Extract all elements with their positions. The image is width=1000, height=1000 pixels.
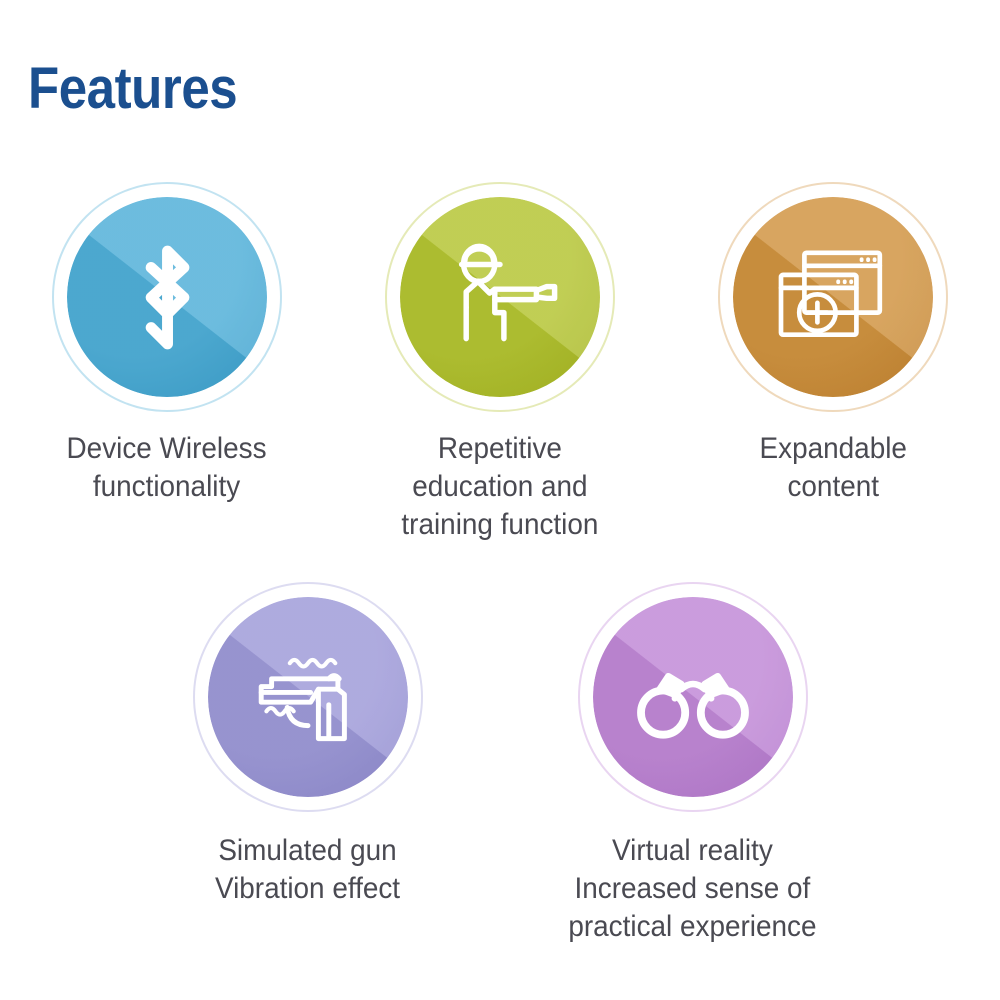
feature-badge[interactable] bbox=[584, 588, 802, 806]
feature-item[interactable]: Device Wireless functionality bbox=[1, 188, 334, 544]
expandable-windows-plus-icon bbox=[768, 232, 898, 362]
feature-label: Repetitive education and training functi… bbox=[402, 430, 599, 544]
feature-badge[interactable] bbox=[391, 188, 609, 406]
feature-item[interactable]: Expandable content bbox=[667, 188, 1000, 544]
feature-label: Expandable content bbox=[759, 430, 906, 506]
page-title: Features bbox=[28, 57, 237, 121]
feature-row-top: Device Wireless functionality bbox=[0, 188, 1000, 544]
bluetooth-icon bbox=[102, 232, 232, 362]
feature-row-bottom: Simulated gun Vibration effect bbox=[0, 588, 1000, 946]
shooter-training-icon bbox=[435, 232, 565, 362]
feature-label: Virtual reality Increased sense of pract… bbox=[568, 832, 816, 946]
feature-badge[interactable] bbox=[724, 188, 942, 406]
feature-badge[interactable] bbox=[58, 188, 276, 406]
vibrating-gun-icon bbox=[243, 632, 373, 762]
features-page: Features Device Wireless functionality bbox=[0, 0, 1000, 1000]
binoculars-icon bbox=[628, 632, 758, 762]
feature-item[interactable]: Repetitive education and training functi… bbox=[334, 188, 667, 544]
feature-label: Device Wireless functionality bbox=[67, 430, 267, 506]
feature-badge[interactable] bbox=[199, 588, 417, 806]
feature-item[interactable]: Simulated gun Vibration effect bbox=[115, 588, 500, 946]
feature-item[interactable]: Virtual reality Increased sense of pract… bbox=[500, 588, 885, 946]
feature-label: Simulated gun Vibration effect bbox=[215, 832, 400, 908]
